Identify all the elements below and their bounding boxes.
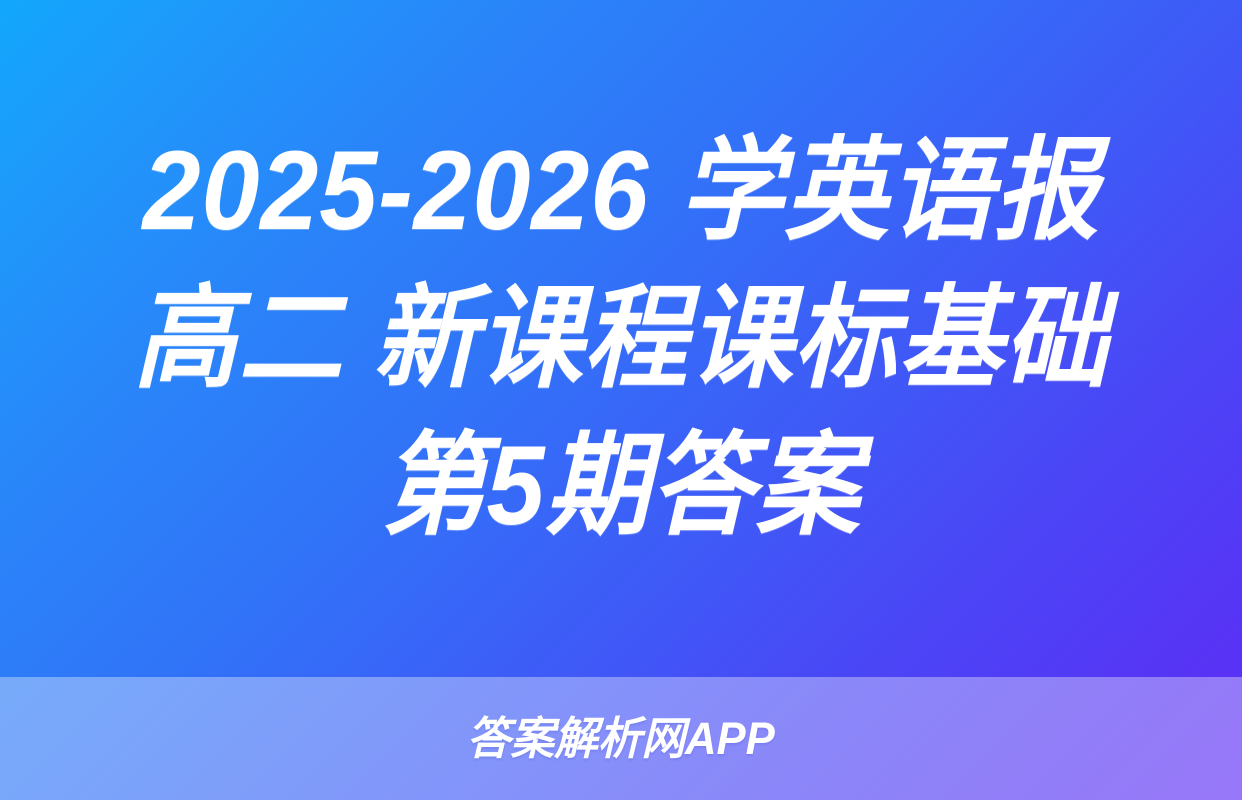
poster-canvas: 2025-2026 学英语报 高二 新课程课标基础 第5期答案 答案解析网APP (0, 0, 1242, 800)
page-title: 2025-2026 学英语报 高二 新课程课标基础 第5期答案 (114, 117, 1128, 560)
footer-watermark-band: 答案解析网APP (0, 677, 1242, 800)
title-area: 2025-2026 学英语报 高二 新课程课标基础 第5期答案 (0, 0, 1242, 677)
app-watermark-label: 答案解析网APP (467, 716, 775, 761)
